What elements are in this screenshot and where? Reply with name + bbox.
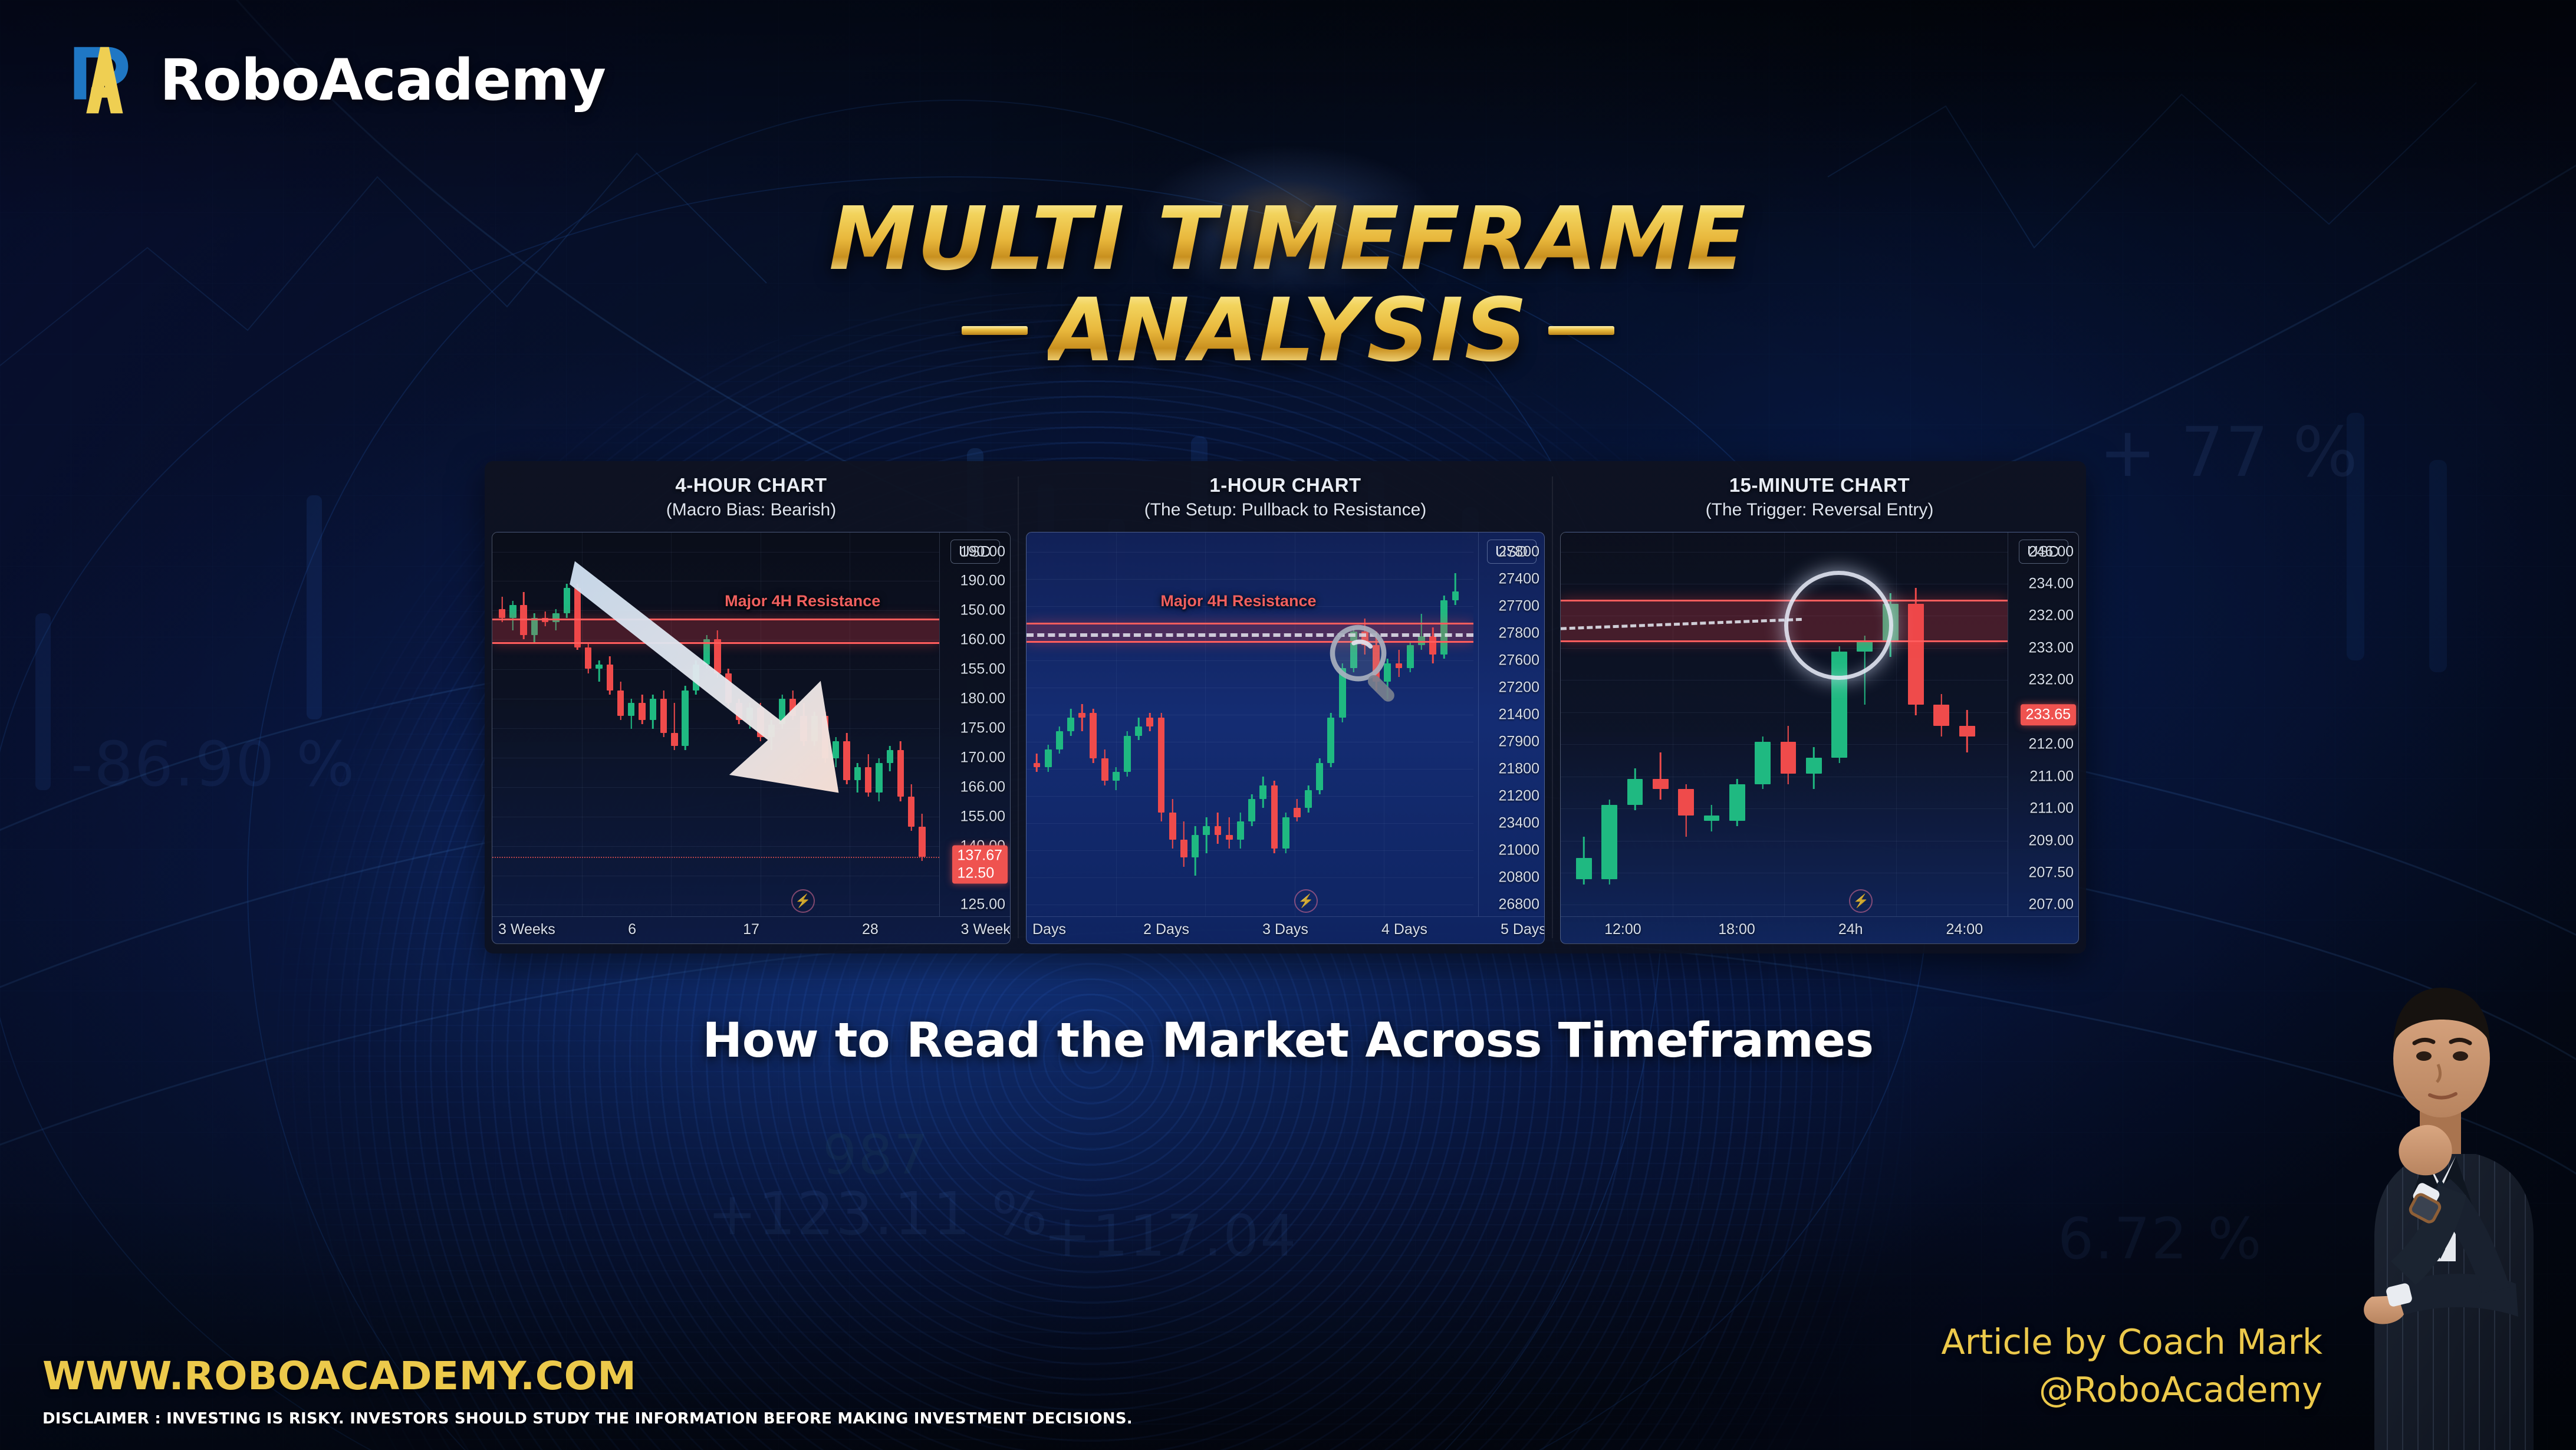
candlestick [1192, 532, 1199, 916]
x-axis-tick-label: 18:00 [1718, 921, 1755, 938]
chart-15m-canvas[interactable]: USD 246.00234.00232.00233.00232.00212.00… [1560, 532, 2079, 944]
y-axis-tick-label: 23400 [1498, 815, 1539, 832]
candlestick [1440, 532, 1447, 916]
candlestick [1653, 532, 1669, 916]
chart-panels-strip: 4-HOUR CHART (Macro Bias: Bearish) Major… [485, 461, 2086, 953]
chart-4h-price-line [492, 857, 939, 858]
chart-panel-1h[interactable]: 1-HOUR CHART (The Setup: Pullback to Res… [1019, 461, 1552, 953]
chart-4h-price-badge-line1: 137.67 [958, 847, 1002, 865]
candlestick [1294, 532, 1301, 916]
coach-portrait [2299, 931, 2576, 1450]
candlestick [1282, 532, 1289, 916]
page-title: MULTI TIMEFRAME ANALYSIS [0, 195, 2576, 375]
candle-body [1135, 726, 1142, 735]
y-axis-tick-label: 26800 [1498, 896, 1539, 913]
candlestick [1067, 532, 1074, 916]
candlestick [1180, 532, 1187, 916]
brand-logo[interactable]: RoboAcademy [56, 37, 606, 124]
disclaimer-text: DISCLAIMER : INVESTING IS RISKY. INVESTO… [42, 1410, 1133, 1428]
candle-body [1305, 790, 1312, 808]
candle-body [1146, 718, 1153, 726]
y-axis-tick-label: 160.00 [960, 632, 1005, 649]
candle-body [1653, 779, 1669, 790]
y-axis-tick-label: 27400 [1498, 570, 1539, 587]
chart-15m-price-badge: 233.65 [2021, 704, 2076, 725]
candle-body [1282, 817, 1289, 849]
chart-panel-4h-subtitle: (Macro Bias: Bearish) [491, 498, 1012, 521]
y-axis-tick-label: 155.00 [960, 661, 1005, 678]
candle-body [1113, 772, 1120, 781]
candlestick [1418, 532, 1425, 916]
y-axis-tick-label: 21400 [1498, 706, 1539, 723]
candlestick [1452, 532, 1459, 916]
highlight-circle-icon[interactable] [1784, 571, 1893, 680]
y-axis-tick-label: 246.00 [2029, 543, 2074, 560]
chart-1h-plot: Major 4H Resistance [1027, 532, 1473, 916]
candle-body [1781, 742, 1797, 774]
candle-body [1248, 799, 1255, 821]
candle-body [1755, 742, 1771, 784]
candle-wick [1228, 817, 1230, 849]
page-title-line2-row: ANALYSIS [0, 286, 2576, 375]
chart-4h-x-axis: 3 Weeks617283 Weeks [492, 916, 1010, 943]
chart-panel-4h-title: 4-HOUR CHART [491, 474, 1012, 497]
y-axis-tick-label: 211.00 [2029, 768, 2074, 785]
y-axis-tick-label: 125.00 [960, 896, 1005, 913]
y-axis-tick-label: 232.00 [2029, 672, 2074, 689]
y-axis-tick-label: 209.00 [2029, 832, 2074, 849]
candlestick [1215, 532, 1222, 916]
page-subtitle: How to Read the Market Across Timeframes [0, 1013, 2576, 1068]
candlestick [908, 532, 914, 916]
x-axis-tick-label: 5 Days [1501, 921, 1545, 938]
candle-body [1158, 718, 1165, 813]
x-axis-tick-label: Days [1032, 921, 1066, 938]
candlestick [542, 532, 548, 916]
candle-body [1259, 785, 1266, 799]
y-axis-tick-label: 21200 [1498, 788, 1539, 805]
y-axis-tick-label: 166.00 [960, 778, 1005, 795]
candle-body [1627, 779, 1643, 805]
y-axis-tick-label: 170.00 [960, 749, 1005, 766]
candlestick [1704, 532, 1720, 916]
chart-1h-resistance-label: Major 4H Resistance [1160, 592, 1316, 610]
candlestick [1045, 532, 1052, 916]
candle-body [1959, 726, 1975, 736]
candle-body [1316, 763, 1323, 790]
candle-body [1729, 784, 1745, 821]
y-axis-tick-label: 21000 [1498, 842, 1539, 859]
candle-wick [1206, 817, 1208, 853]
candlestick [1203, 532, 1210, 916]
candle-wick [1660, 752, 1662, 800]
candle-body [1090, 713, 1097, 758]
candlestick [1113, 532, 1120, 916]
y-axis-tick-label: 27200 [1498, 679, 1539, 696]
y-axis-tick-label: 27800 [1498, 624, 1539, 642]
candle-body [1271, 785, 1278, 849]
candlestick [1135, 532, 1142, 916]
down-arrow-icon [568, 540, 890, 840]
candlestick [1678, 532, 1694, 916]
footer-left: WWW.ROBOACADEMY.COM DISCLAIMER : INVESTI… [42, 1353, 1133, 1428]
candlestick [1271, 532, 1278, 916]
candlestick [1090, 532, 1097, 916]
x-axis-tick-label: 4 Days [1381, 921, 1427, 938]
candle-body [1601, 805, 1617, 879]
candle-body [1237, 821, 1244, 840]
candle-body [1452, 591, 1459, 600]
lightning-bolt-icon[interactable]: ⚡ [1294, 889, 1318, 913]
lightning-bolt-icon[interactable]: ⚡ [791, 889, 815, 913]
candlestick [1237, 532, 1244, 916]
x-axis-tick-label: 3 Weeks [960, 921, 1011, 938]
x-axis-tick-label: 6 [628, 921, 636, 938]
chart-4h-price-badge: 137.67 12.50 [952, 846, 1008, 884]
y-axis-tick-label: 27600 [1498, 652, 1539, 669]
candle-body [1806, 758, 1822, 774]
candle-body [1215, 826, 1222, 835]
chart-15m-x-axis: 12:0018:0024h24:00 [1561, 916, 2078, 943]
x-axis-tick-label: 24h [1838, 921, 1863, 938]
y-axis-tick-label: 27800 [1498, 543, 1539, 560]
y-axis-tick-label: 211.00 [2029, 800, 2074, 817]
candle-body [1078, 713, 1085, 718]
y-axis-tick-label: 212.00 [2029, 736, 2074, 753]
candle-body [509, 605, 516, 618]
y-axis-tick-label: 190.00 [960, 543, 1005, 560]
page-title-line1: MULTI TIMEFRAME [0, 195, 2576, 284]
chart-15m-y-axis[interactable]: USD 246.00234.00232.00233.00232.00212.00… [2008, 532, 2078, 916]
candlestick [509, 532, 516, 916]
candlestick [1627, 532, 1643, 916]
candlestick [520, 532, 527, 916]
chart-panel-15m-subtitle: (The Trigger: Reversal Entry) [1559, 498, 2080, 521]
candlestick [1158, 532, 1165, 916]
candle-body [1704, 816, 1720, 821]
candlestick [1259, 532, 1266, 916]
candlestick [1933, 532, 1949, 916]
candlestick [531, 532, 538, 916]
y-axis-tick-label: 207.00 [2029, 896, 2074, 913]
title-rule-left [962, 326, 1028, 335]
candlestick [1576, 532, 1592, 916]
candlestick [1169, 532, 1176, 916]
y-axis-tick-label: 234.00 [2029, 575, 2074, 592]
magnifier-icon[interactable] [1321, 598, 1411, 728]
candle-wick [1081, 704, 1083, 731]
candle-body [1056, 731, 1063, 749]
candle-body [919, 827, 925, 857]
candlestick [552, 532, 559, 916]
candle-body [1933, 705, 1949, 726]
candle-body [1576, 858, 1592, 879]
chart-1h-y-axis[interactable]: USD 278002740027700278002760027200214002… [1478, 532, 1544, 916]
candlestick [1883, 532, 1899, 916]
candlestick [897, 532, 904, 916]
candlestick [1226, 532, 1233, 916]
chart-4h-plot: Major 4H Resistance [492, 532, 939, 916]
y-axis-tick-label: 233.00 [2029, 639, 2074, 656]
candlestick [1146, 532, 1153, 916]
x-axis-tick-label: 2 Days [1143, 921, 1189, 938]
title-rule-right [1548, 326, 1614, 335]
candlestick [1056, 532, 1063, 916]
candle-body [1045, 749, 1052, 768]
candlestick [1305, 532, 1312, 916]
candlestick [1429, 532, 1436, 916]
candle-body [1192, 835, 1199, 857]
y-axis-tick-label: 190.00 [960, 573, 1005, 590]
y-axis-tick-label: 232.00 [2029, 607, 2074, 624]
y-axis-tick-label: 20800 [1498, 869, 1539, 886]
candlestick [1755, 532, 1771, 916]
chart-1h-canvas[interactable]: Major 4H Resistance USD 2780027400277002… [1026, 532, 1545, 944]
candlestick [1781, 532, 1797, 916]
chart-4h-price-badge-line2: 12.50 [958, 864, 1002, 882]
chart-4h-y-axis[interactable]: USD 190.00190.00150.00160.00155.00180.00… [939, 532, 1010, 916]
candle-body [1226, 835, 1233, 840]
candlestick [1601, 532, 1617, 916]
candlestick [1078, 532, 1085, 916]
y-axis-tick-label: 27900 [1498, 734, 1539, 751]
chart-1h-x-axis: Days2 Days3 Days4 Days5 Days [1027, 916, 1544, 943]
candlestick [1101, 532, 1108, 916]
candle-body [1180, 840, 1187, 858]
gridline-vertical [1673, 532, 1673, 916]
author-handle[interactable]: @RoboAcademy [1941, 1369, 2322, 1411]
page-title-line2: ANALYSIS [1048, 286, 1529, 375]
candle-body [1124, 736, 1131, 772]
author-byline: Article by Coach Mark [1941, 1321, 2322, 1363]
candlestick [1248, 532, 1255, 916]
chart-panel-1h-title: 1-HOUR CHART [1025, 474, 1546, 497]
candle-body [1169, 813, 1176, 840]
candlestick [1124, 532, 1131, 916]
site-url-link[interactable]: WWW.ROBOACADEMY.COM [42, 1353, 1133, 1399]
y-axis-tick-label: 207.50 [2029, 864, 2074, 882]
y-axis-tick-label: 155.00 [960, 808, 1005, 825]
candlestick [499, 532, 505, 916]
candlestick [1034, 532, 1041, 916]
candle-body [1067, 718, 1074, 731]
candle-body [897, 750, 904, 797]
x-axis-tick-label: 24:00 [1946, 921, 1983, 938]
x-axis-tick-label: 3 Weeks [498, 921, 555, 938]
y-axis-tick-label: 150.00 [960, 602, 1005, 619]
chart-4h-canvas[interactable]: Major 4H Resistance USD 190.00190.00 [492, 532, 1011, 944]
chart-panel-1h-subtitle: (The Setup: Pullback to Resistance) [1025, 498, 1546, 521]
y-axis-tick-label: 21800 [1498, 761, 1539, 778]
chart-panel-15m-title: 15-MINUTE CHART [1559, 474, 2080, 497]
candle-body [1034, 763, 1041, 768]
lightning-bolt-icon[interactable]: ⚡ [1849, 889, 1873, 913]
y-axis-tick-label: 27700 [1498, 597, 1539, 614]
candle-body [1203, 826, 1210, 835]
candle-body [1294, 808, 1301, 817]
x-axis-tick-label: 12:00 [1604, 921, 1641, 938]
x-axis-tick-label: 17 [743, 921, 759, 938]
candle-body [499, 609, 505, 617]
brand-logo-text: RoboAcademy [160, 52, 606, 108]
candlestick [1959, 532, 1975, 916]
candle-body [908, 797, 914, 827]
x-axis-tick-label: 28 [862, 921, 879, 938]
candlestick [1908, 532, 1924, 916]
y-axis-tick-label: 180.00 [960, 691, 1005, 708]
candlestick [919, 532, 925, 916]
footer-right: Article by Coach Mark @RoboAcademy [1941, 1321, 2322, 1411]
candle-body [1678, 789, 1694, 816]
x-axis-tick-label: 3 Days [1262, 921, 1308, 938]
chart-panel-4h[interactable]: 4-HOUR CHART (Macro Bias: Bearish) Major… [485, 461, 1018, 953]
candlestick [1729, 532, 1745, 916]
candle-body [1101, 758, 1108, 781]
chart-panel-15m[interactable]: 15-MINUTE CHART (The Trigger: Reversal E… [1553, 461, 2086, 953]
chart-15m-plot [1561, 532, 2008, 916]
roboacademy-ra-monogram-icon [56, 37, 144, 124]
y-axis-tick-label: 175.00 [960, 720, 1005, 737]
